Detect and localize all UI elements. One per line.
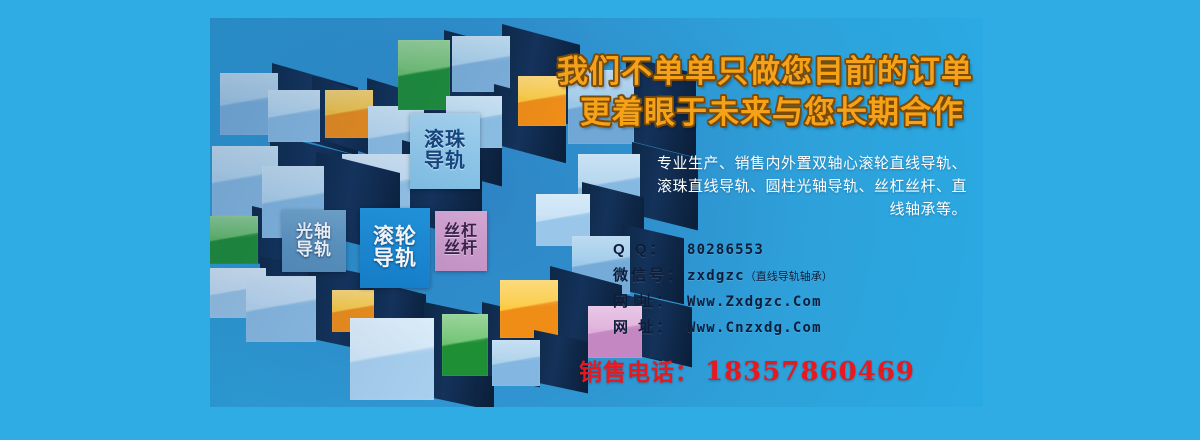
chip-ball-guide-line1: 滚珠 <box>424 130 466 151</box>
contact-value-website-1[interactable]: Www.Zxdgzc.Com <box>687 294 822 310</box>
contact-row-qq: Q Q： 80286553 <box>613 238 975 259</box>
chip-screw-rod[interactable]: 丝杠 丝杆 <box>435 211 487 271</box>
contact-value-wechat[interactable]: zxdgzc <box>687 268 745 284</box>
description: 专业生产、销售内外置双轴心滚轮直线导轨、 滚珠直线导轨、圆柱光轴导轨、丝杠丝杆、… <box>555 152 975 222</box>
cube-green-2 <box>398 40 450 110</box>
banner-content: 我们不单单只做您目前的订单 更着眼于未来与您长期合作 专业生产、销售内外置双轴心… <box>555 30 975 400</box>
contact-label-qq: Q Q： <box>613 238 687 259</box>
contact-value-website-2[interactable]: Www.Cnzxdg.Com <box>687 320 822 336</box>
cube-blue-15 <box>246 276 316 342</box>
description-line2: 滚珠直线导轨、圆柱光轴导轨、丝杠丝杆、直 <box>555 175 967 198</box>
description-line3: 线轴承等。 <box>555 198 967 221</box>
banner-panel: 滚珠 导轨 光轴 导轨 滚轮 导轨 丝杠 丝杆 我们不单单只做您目前的订单 更着… <box>210 18 983 407</box>
cube-orange-4 <box>500 280 558 338</box>
contact-note-wechat: （直线导轨轴承） <box>745 268 833 284</box>
promo-banner: 滚珠 导轨 光轴 导轨 滚轮 导轨 丝杠 丝杆 我们不单单只做您目前的订单 更着… <box>0 0 1200 440</box>
chip-optical-axis-line1: 光轴 <box>296 223 332 241</box>
contact-row-website-2: 网 址： Www.Cnzxdg.Com <box>613 316 975 337</box>
chip-roller-guide[interactable]: 滚轮 导轨 <box>360 208 430 288</box>
chip-screw-rod-line2: 丝杆 <box>444 241 478 258</box>
contact-label-wechat: 微信号： <box>613 264 687 285</box>
cube-green-1 <box>210 216 258 264</box>
chip-optical-axis[interactable]: 光轴 导轨 <box>282 210 346 272</box>
sales-phone[interactable]: 销售电话： 18357860469 <box>555 353 975 387</box>
description-line1: 专业生产、销售内外置双轴心滚轮直线导轨、 <box>555 152 967 175</box>
chip-optical-axis-line2: 导轨 <box>296 241 332 259</box>
cube-blue-6 <box>452 36 510 92</box>
chip-screw-rod-line1: 丝杠 <box>444 224 478 241</box>
cube-lightblue-big <box>350 318 434 400</box>
sales-phone-number[interactable]: 18357860469 <box>699 357 915 387</box>
contact-block: Q Q： 80286553 微信号： zxdgzc （直线导轨轴承） 网 址： … <box>555 238 975 337</box>
chip-ball-guide-line2: 导轨 <box>424 151 466 172</box>
contact-label-website-2: 网 址： <box>613 316 687 337</box>
contact-label-website-1: 网 址： <box>613 290 687 311</box>
contact-row-website-1: 网 址： Www.Zxdgzc.Com <box>613 290 975 311</box>
contact-row-wechat: 微信号： zxdgzc （直线导轨轴承） <box>613 264 975 285</box>
cube-green-3 <box>442 314 488 376</box>
cube-blue-4 <box>268 90 320 142</box>
chip-ball-guide[interactable]: 滚珠 导轨 <box>410 113 480 189</box>
headline-line2: 更着眼于未来与您长期合作 <box>555 93 975 134</box>
chip-roller-guide-line2: 导轨 <box>373 248 417 270</box>
cube-orange-1 <box>325 90 373 138</box>
chip-roller-guide-line1: 滚轮 <box>373 226 417 248</box>
cube-blue-16 <box>492 340 540 386</box>
contact-value-qq[interactable]: 80286553 <box>687 242 764 258</box>
headline: 我们不单单只做您目前的订单 更着眼于未来与您长期合作 <box>555 30 975 134</box>
headline-line1: 我们不单单只做您目前的订单 <box>555 52 975 93</box>
sales-phone-label: 销售电话： <box>579 353 699 387</box>
